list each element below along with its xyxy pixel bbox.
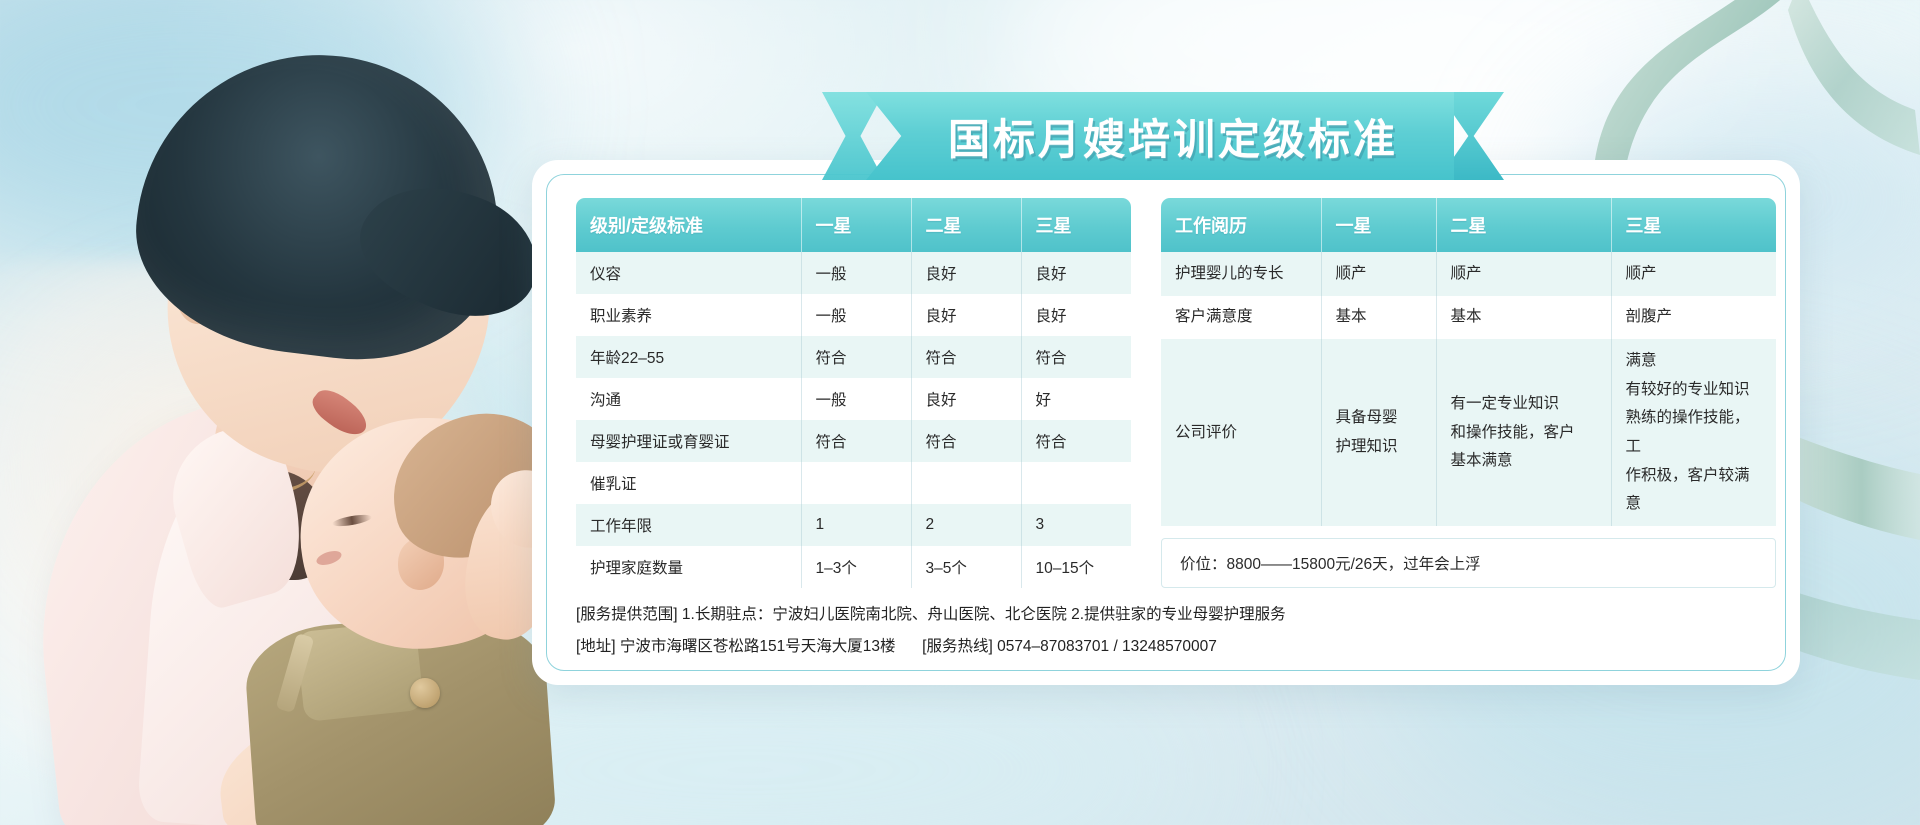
table-row: 沟通一般良好好 [576,378,1131,420]
table-cell: 良好 [911,252,1021,294]
grading-standard-body: 仪容一般良好良好职业素养一般良好良好年龄22–55符合符合符合沟通一般良好好母婴… [576,252,1131,588]
table-cell: 好 [1021,378,1131,420]
grading-standard-table: 级别/定级标准 一星 二星 三星 仪容一般良好良好职业素养一般良好良好年龄22–… [576,198,1131,588]
table-header-row: 级别/定级标准 一星 二星 三星 [576,198,1131,252]
table-row: 护理家庭数量1–3个3–5个10–15个 [576,546,1131,588]
table-cell [1021,462,1131,504]
row-label-cell: 护理婴儿的专长 [1161,252,1321,296]
table-cell: 一般 [801,252,911,294]
table-cell: 有一定专业知识和操作技能，客户基本满意 [1436,339,1611,526]
table-row: 护理婴儿的专长顺产顺产顺产 [1161,252,1776,296]
table-cell: 符合 [801,420,911,462]
table-cell: 顺产 [1321,252,1436,296]
row-label-cell: 工作年限 [576,504,801,546]
row-label-cell: 公司评价 [1161,339,1321,526]
table-cell: 一般 [801,294,911,336]
row-label-cell: 催乳证 [576,462,801,504]
page-title: 国标月嫂培训定级标准 [866,92,1454,180]
table-cell: 1–3个 [801,546,911,588]
table-row: 职业素养一般良好良好 [576,294,1131,336]
tables-container: 级别/定级标准 一星 二星 三星 仪容一般良好良好职业素养一般良好良好年龄22–… [576,198,1776,588]
service-scope-note: [服务提供范围] 1.长期驻点：宁波妇儿医院南北院、舟山医院、北仑医院 2.提供… [576,599,1286,631]
price-note: 价位：8800——15800元/26天，过年会上浮 [1161,538,1776,588]
table-cell: 符合 [801,336,911,378]
table-header-row: 工作阅历 一星 二星 三星 [1161,198,1776,252]
table-cell: 符合 [911,420,1021,462]
row-label-cell: 仪容 [576,252,801,294]
table-cell: 10–15个 [1021,546,1131,588]
nurse-and-baby-photo [0,0,620,825]
table-cell: 具备母婴护理知识 [1321,339,1436,526]
row-label-cell: 职业素养 [576,294,801,336]
column-header-experience: 工作阅历 [1161,198,1321,252]
table-row: 年龄22–55符合符合符合 [576,336,1131,378]
table-cell: 符合 [911,336,1021,378]
table-cell: 符合 [1021,420,1131,462]
table-row: 工作年限123 [576,504,1131,546]
column-header-one-star: 一星 [1321,198,1436,252]
table-row: 母婴护理证或育婴证符合符合符合 [576,420,1131,462]
table-cell: 顺产 [1611,252,1776,296]
table-cell: 满意有较好的专业知识熟练的操作技能，工作积极，客户较满意 [1611,339,1776,526]
table-cell: 基本 [1321,296,1436,340]
table-row: 客户满意度基本基本剖腹产 [1161,296,1776,340]
address-hotline-note: [地址] 宁波市海曙区苍松路151号天海大厦13楼 [服务热线] 0574–87… [576,631,1286,663]
table-cell: 3 [1021,504,1131,546]
table-cell: 顺产 [1436,252,1611,296]
title-banner: 国标月嫂培训定级标准 [866,92,1454,180]
row-label-cell: 客户满意度 [1161,296,1321,340]
table-cell: 3–5个 [911,546,1021,588]
column-header-three-star: 三星 [1021,198,1131,252]
row-label-cell: 护理家庭数量 [576,546,801,588]
table-cell: 1 [801,504,911,546]
column-header-three-star: 三星 [1611,198,1776,252]
table-cell: 符合 [1021,336,1131,378]
table-cell [911,462,1021,504]
column-header-two-star: 二星 [911,198,1021,252]
content-card: 级别/定级标准 一星 二星 三星 仪容一般良好良好职业素养一般良好良好年龄22–… [532,160,1800,685]
table-cell: 良好 [911,294,1021,336]
table-cell: 剖腹产 [1611,296,1776,340]
row-label-cell: 年龄22–55 [576,336,801,378]
table-cell: 2 [911,504,1021,546]
table-cell: 良好 [1021,252,1131,294]
table-row: 催乳证 [576,462,1131,504]
column-header-one-star: 一星 [801,198,911,252]
row-label-cell: 沟通 [576,378,801,420]
row-label-cell: 母婴护理证或育婴证 [576,420,801,462]
hotline-note: [服务热线] 0574–87083701 / 13248570007 [922,638,1217,655]
table-row: 公司评价具备母婴护理知识有一定专业知识和操作技能，客户基本满意满意有较好的专业知… [1161,339,1776,526]
table-cell: 一般 [801,378,911,420]
work-experience-body: 护理婴儿的专长顺产顺产顺产客户满意度基本基本剖腹产公司评价具备母婴护理知识有一定… [1161,252,1776,526]
right-column: 工作阅历 一星 二星 三星 护理婴儿的专长顺产顺产顺产客户满意度基本基本剖腹产公… [1161,198,1776,588]
table-cell: 良好 [911,378,1021,420]
table-cell: 基本 [1436,296,1611,340]
column-header-two-star: 二星 [1436,198,1611,252]
address-note: [地址] 宁波市海曙区苍松路151号天海大厦13楼 [576,638,896,655]
footer-notes: [服务提供范围] 1.长期驻点：宁波妇儿医院南北院、舟山医院、北仑医院 2.提供… [576,599,1286,663]
table-cell [801,462,911,504]
table-cell: 良好 [1021,294,1131,336]
column-header-criteria: 级别/定级标准 [576,198,801,252]
work-experience-table: 工作阅历 一星 二星 三星 护理婴儿的专长顺产顺产顺产客户满意度基本基本剖腹产公… [1161,198,1776,526]
table-row: 仪容一般良好良好 [576,252,1131,294]
